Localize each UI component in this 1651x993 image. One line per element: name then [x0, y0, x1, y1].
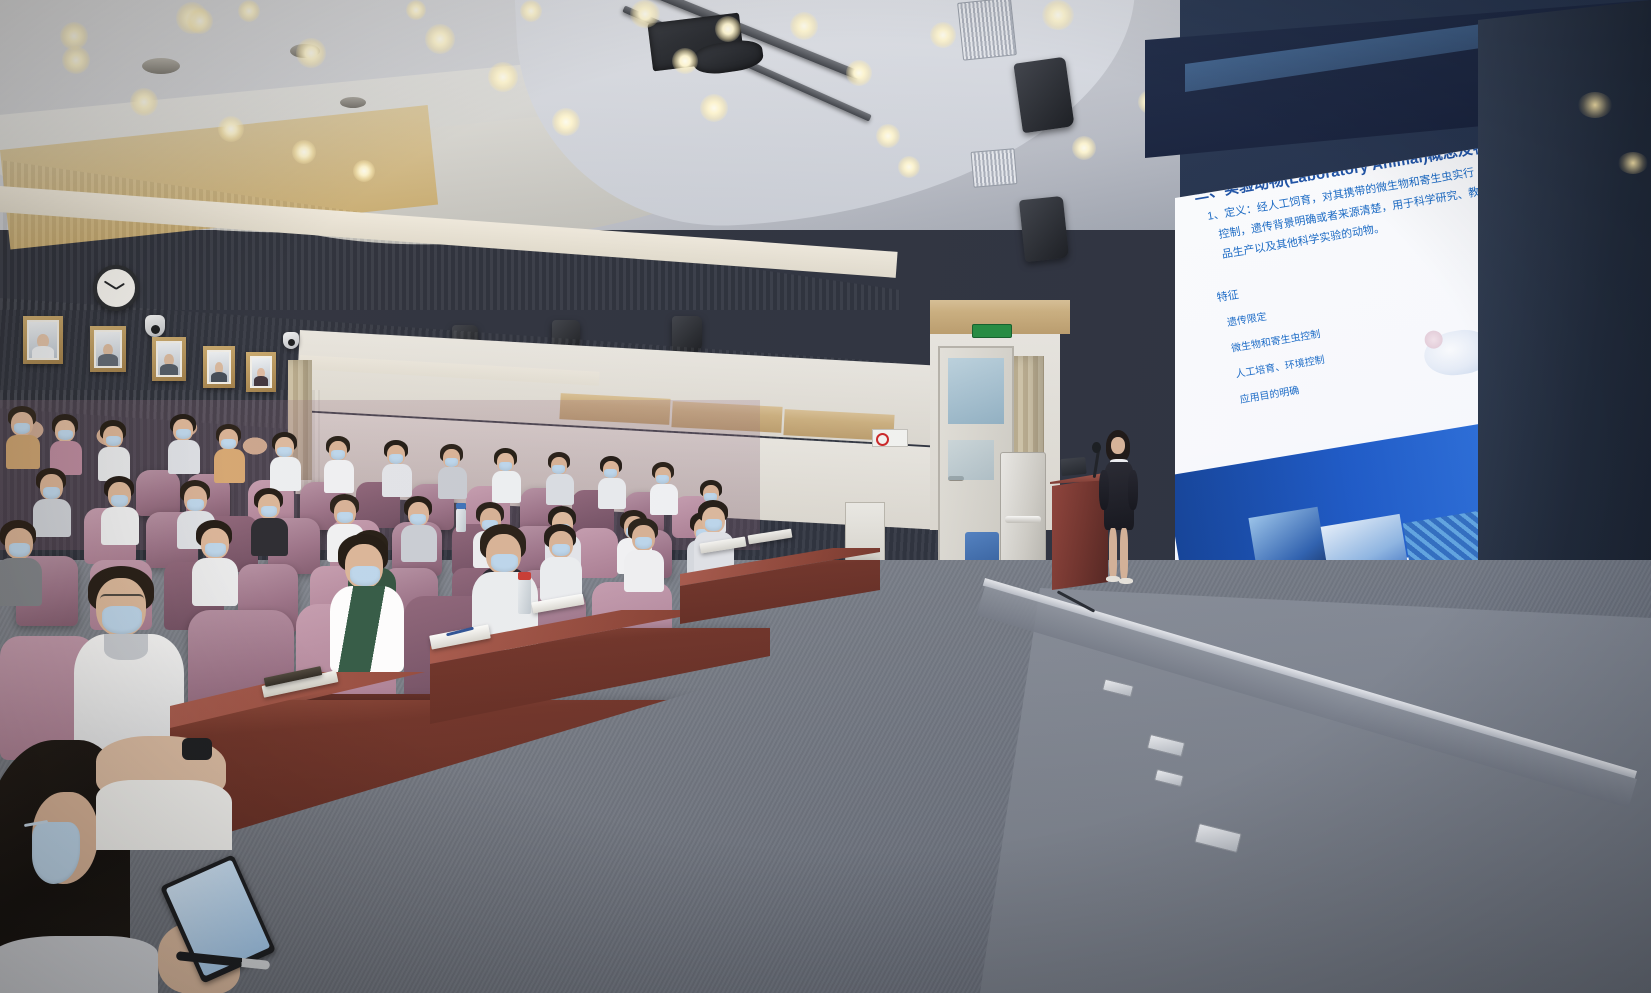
- face-mask: [9, 543, 30, 557]
- face-mask: [705, 519, 722, 531]
- face-mask: [111, 495, 128, 507]
- eyeglasses-icon: [100, 594, 144, 604]
- downlight: [187, 8, 213, 34]
- face-mask: [43, 487, 60, 499]
- bottle-cap-2: [456, 503, 466, 509]
- downlight: [62, 46, 90, 74]
- wall-portrait-1: [23, 316, 63, 364]
- torso: [101, 507, 139, 545]
- face-mask: [58, 430, 73, 440]
- camera-lens-icon-2: [288, 339, 295, 346]
- clock-minute-hand: [104, 281, 117, 290]
- ceiling-dome-fixture-3: [340, 97, 366, 108]
- downlight: [425, 24, 455, 54]
- downlight: [630, 0, 660, 28]
- face-mask: [14, 423, 30, 434]
- wall-clock: [93, 265, 139, 311]
- seat[interactable]: [136, 470, 180, 516]
- slide-bullet-5: 应用目的明确: [1238, 381, 1300, 406]
- security-camera-icon: [145, 315, 165, 337]
- downlight: [846, 60, 872, 86]
- wall-portrait-3: [152, 337, 186, 381]
- downlight: [218, 116, 244, 142]
- downlight: [488, 62, 518, 92]
- presenter-shoe-left: [1106, 576, 1120, 582]
- downlight: [700, 94, 728, 122]
- torso: [438, 467, 467, 499]
- no-smoking-sign: [872, 429, 908, 447]
- torso: [251, 518, 288, 556]
- face-mask: [102, 606, 142, 634]
- torso: [546, 474, 574, 505]
- face-mask: [635, 537, 652, 549]
- torso: [33, 499, 71, 537]
- face-mask: [445, 458, 458, 467]
- security-camera-icon-2: [283, 332, 299, 349]
- presenter-shoe-right: [1119, 578, 1133, 584]
- face-mask: [221, 439, 236, 449]
- torso: [6, 435, 40, 469]
- door-window-glass: [948, 358, 1004, 424]
- foreground-sleeve: [96, 780, 232, 850]
- hvac-vent-2: [971, 148, 1018, 188]
- torso: [192, 558, 238, 606]
- face-mask: [410, 514, 426, 525]
- presenter-leg-left: [1109, 528, 1117, 580]
- ceiling-speaker-1: [1013, 57, 1074, 134]
- downlight: [898, 156, 920, 178]
- torso: [330, 586, 404, 672]
- torso: [598, 478, 626, 509]
- downlight: [520, 0, 542, 22]
- face-mask: [604, 469, 617, 478]
- downlight: [60, 22, 88, 50]
- wall-portrait-4: [203, 346, 235, 388]
- torso: [624, 550, 664, 592]
- downlight: [930, 22, 956, 48]
- ceiling-dome-fixture-1: [142, 58, 180, 74]
- bottle-cap: [518, 572, 531, 580]
- downlight: [292, 140, 316, 164]
- torso: [401, 525, 437, 562]
- torso: [0, 558, 42, 606]
- downlight: [552, 108, 580, 136]
- downlight: [296, 38, 326, 68]
- presenter-arm-left: [1099, 470, 1109, 510]
- downlight: [876, 124, 900, 148]
- face-mask: [331, 450, 345, 460]
- door-lower-glass: [948, 440, 994, 480]
- face-mask: [491, 554, 518, 572]
- face-mask: [261, 506, 277, 517]
- downlight: [790, 12, 818, 40]
- downlight: [238, 0, 260, 22]
- face-mask: [205, 543, 226, 557]
- torso: [270, 457, 301, 491]
- lecture-hall-photo: 三、实验动物(Laboratory Animal)概念及特征 1、定义：经人工饲…: [0, 0, 1651, 993]
- torso: [214, 449, 245, 483]
- slide-bullet-2: 遗传限定: [1226, 308, 1268, 329]
- wristwatch-icon: [182, 738, 212, 760]
- downlight: [130, 88, 158, 116]
- camera-lens-icon: [151, 325, 160, 334]
- face-mask: [656, 475, 669, 484]
- torso: [650, 484, 678, 515]
- no-smoking-icon: [876, 433, 889, 446]
- ceiling-speaker-2: [1019, 196, 1069, 262]
- exit-sign: [972, 324, 1012, 338]
- downlight: [1072, 136, 1096, 160]
- torso: [382, 464, 412, 497]
- clock-hour-hand: [116, 283, 125, 290]
- face-mask: [187, 499, 204, 511]
- column-light-1: [1578, 92, 1612, 118]
- presenter: [1098, 430, 1140, 590]
- water-bottle-2: [456, 508, 466, 532]
- wall-portrait-5: [246, 352, 276, 392]
- presenter-face: [1111, 437, 1125, 454]
- laptop-on-podium: [1060, 457, 1086, 476]
- foreground-person-2: [96, 736, 276, 856]
- face-mask: [389, 454, 403, 464]
- slide-bullet-4: 人工培育、环境控制: [1234, 351, 1325, 380]
- downlight: [353, 160, 375, 182]
- water-bottle: [518, 578, 531, 614]
- downlight: [672, 48, 698, 74]
- cabinet-handle-icon[interactable]: [1005, 516, 1042, 523]
- wall-portrait-2: [90, 326, 126, 372]
- torso: [492, 471, 521, 503]
- face-mask: [176, 429, 191, 439]
- presenter-leg-right: [1120, 528, 1128, 580]
- downlight: [1042, 0, 1074, 30]
- hvac-vent-1: [957, 0, 1017, 61]
- face-mask: [277, 447, 292, 457]
- face-mask: [552, 465, 565, 474]
- slide-bullet-1: 特征: [1216, 286, 1240, 305]
- face-mask: [499, 462, 512, 471]
- face-mask: [337, 512, 353, 523]
- face-mask: [106, 436, 121, 446]
- torso: [324, 460, 354, 493]
- presenter-arm-right: [1128, 470, 1138, 510]
- slide-bullet-3: 微生物和寄生虫控制: [1230, 325, 1321, 354]
- face-mask: [350, 566, 380, 586]
- downlight: [406, 0, 426, 20]
- downlight: [715, 16, 741, 42]
- foreground-shoulder: [0, 936, 158, 993]
- column-light-2: [1618, 152, 1648, 174]
- torso: [168, 440, 200, 474]
- face-mask: [552, 544, 570, 556]
- lab-coat-collar: [104, 634, 148, 660]
